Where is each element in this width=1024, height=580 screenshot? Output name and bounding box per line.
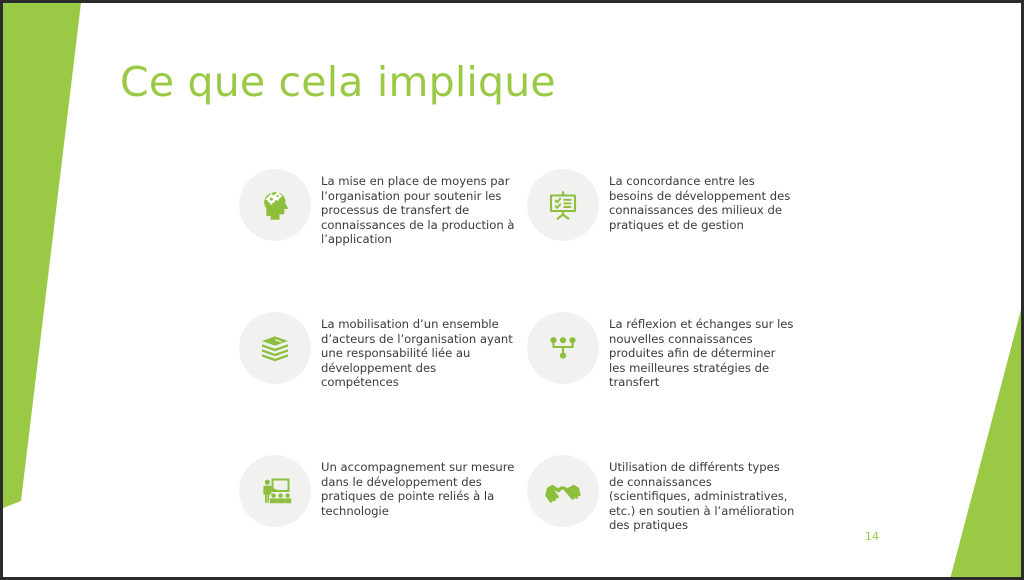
implications-grid: La mise en place de moyens par l’organis… xyxy=(239,163,839,533)
grid-row: La mise en place de moyens par l’organis… xyxy=(239,163,839,247)
page-title: Ce que cela implique xyxy=(120,58,556,106)
implication-item: La réflexion et échanges sur les nouvell… xyxy=(527,306,827,390)
implication-text: La mobilisation d’un ensemble d’acteurs … xyxy=(321,306,517,390)
decorative-green-wedge-left xyxy=(3,3,123,580)
grid-row: Un accompagnement sur mesure dans le dév… xyxy=(239,449,839,533)
implication-text: La mise en place de moyens par l’organis… xyxy=(321,163,517,247)
implication-item: Utilisation de différents types de conna… xyxy=(527,449,827,533)
decorative-green-wedge-right xyxy=(917,3,1024,580)
implication-text: Utilisation de différents types de conna… xyxy=(609,449,795,533)
implication-text: Un accompagnement sur mesure dans le dév… xyxy=(321,449,517,518)
page-number: 14 xyxy=(865,530,879,543)
implication-item: Un accompagnement sur mesure dans le dév… xyxy=(239,449,527,527)
handshake-icon xyxy=(527,455,599,527)
presentation-board-icon xyxy=(527,169,599,241)
implication-text: La concordance entre les besoins de déve… xyxy=(609,163,795,232)
implication-item: La mobilisation d’un ensemble d’acteurs … xyxy=(239,306,527,390)
implication-item: La mise en place de moyens par l’organis… xyxy=(239,163,527,247)
head-gears-icon xyxy=(239,169,311,241)
network-nodes-icon xyxy=(527,312,599,384)
grid-row: La mobilisation d’un ensemble d’acteurs … xyxy=(239,306,839,390)
implication-text: La réflexion et échanges sur les nouvell… xyxy=(609,306,795,390)
books-stack-icon xyxy=(239,312,311,384)
slide: Ce que cela implique xyxy=(0,0,1024,580)
implication-item: La concordance entre les besoins de déve… xyxy=(527,163,827,241)
training-presenter-icon xyxy=(239,455,311,527)
